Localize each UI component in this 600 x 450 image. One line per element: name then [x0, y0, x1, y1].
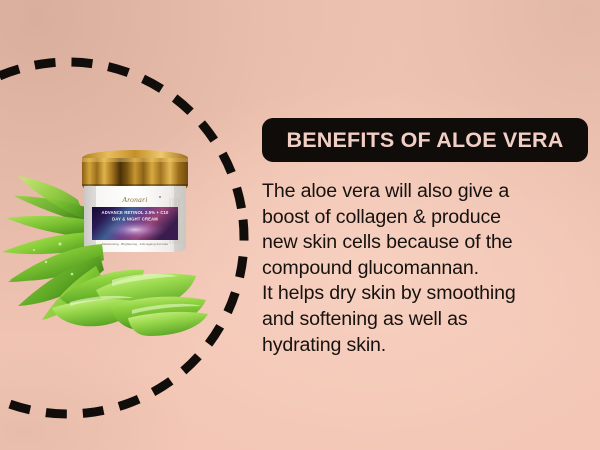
jar-label-band: ADVANCE RETINOL 2.5% + C10 DAY & NIGHT C…: [92, 207, 178, 240]
jar-label-line1: ADVANCE RETINOL 2.5% + C10: [102, 210, 169, 215]
page-title: BENEFITS OF ALOE VERA: [262, 118, 588, 162]
jar-brand-text: Aronari: [121, 195, 147, 204]
poster-canvas: Aronari ADVANCE RETINOL 2.5% + C10 DAY &…: [0, 0, 600, 450]
body-paragraph: The aloe vera will also give a boost of …: [262, 179, 592, 358]
product-and-aloe-composition: Aronari ADVANCE RETINOL 2.5% + C10 DAY &…: [0, 140, 230, 355]
jar-label-line3: Moisturising . Brightening . Anti-Ageing…: [102, 242, 168, 246]
jar-lid: [82, 150, 188, 191]
text-column: BENEFITS OF ALOE VERA The aloe vera will…: [262, 118, 590, 358]
jar-label-line2: DAY & NIGHT CREAM: [112, 217, 158, 222]
